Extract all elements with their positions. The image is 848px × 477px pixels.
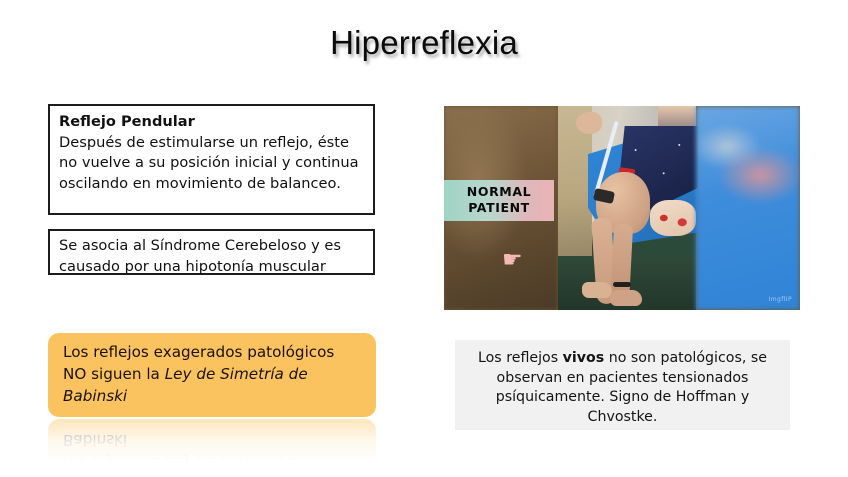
callout-ley-simetria-babinski: Los reflejos exagerados patológicos NO s… bbox=[48, 333, 376, 417]
textbox-reflejos-vivos: Los reflejos vivos no son patológicos, s… bbox=[455, 340, 790, 430]
photo-patient-foot-right bbox=[610, 290, 642, 306]
photo-caption-line-1: NORMAL bbox=[444, 184, 554, 200]
textbox-sindrome-cerebeloso-body: Se asocia al Síndrome Cerebeloso y es ca… bbox=[59, 237, 341, 275]
textbox-reflejo-pendular-heading: Reflejo Pendular bbox=[59, 112, 364, 133]
textbox-reflejo-pendular: Reflejo PendularDespués de estimularse u… bbox=[48, 104, 375, 215]
photo-anklet bbox=[613, 282, 631, 287]
photo-band-right-blurred bbox=[696, 106, 800, 310]
photo-caption-normal-patient: NORMAL PATIENT bbox=[444, 180, 554, 221]
photo-examiner-hand bbox=[576, 112, 602, 134]
textbox-reflejo-pendular-body: Después de estimularse un reflejo, éste … bbox=[59, 134, 359, 192]
textbox-reflejos-vivos-bold: vivos bbox=[563, 350, 605, 366]
page-title: Hiperreflexia bbox=[0, 24, 848, 62]
textbox-reflejos-vivos-before: Los reflejos bbox=[478, 350, 563, 366]
photo-patient-foot-left bbox=[582, 282, 612, 298]
photo-band-center bbox=[558, 106, 696, 310]
callout-reflection-text-plain: Los reflejos exagerados patológicos NO s… bbox=[63, 453, 334, 477]
callout-reflection-text-italic: Ley de Simetría de Babinski bbox=[63, 431, 307, 471]
callout-reflection: Los reflejos exagerados patológicos NO s… bbox=[48, 419, 376, 477]
photo-caption-line-2: PATIENT bbox=[444, 200, 554, 216]
photo-watermark: ImgflIP bbox=[769, 296, 792, 303]
pointing-hand-icon: ☛ bbox=[502, 249, 523, 272]
photo-normal-patient: NORMAL PATIENT ☛ ImgflIP bbox=[444, 106, 800, 310]
textbox-sindrome-cerebeloso: Se asocia al Síndrome Cerebeloso y es ca… bbox=[48, 229, 375, 275]
photo-hands bbox=[650, 200, 696, 236]
